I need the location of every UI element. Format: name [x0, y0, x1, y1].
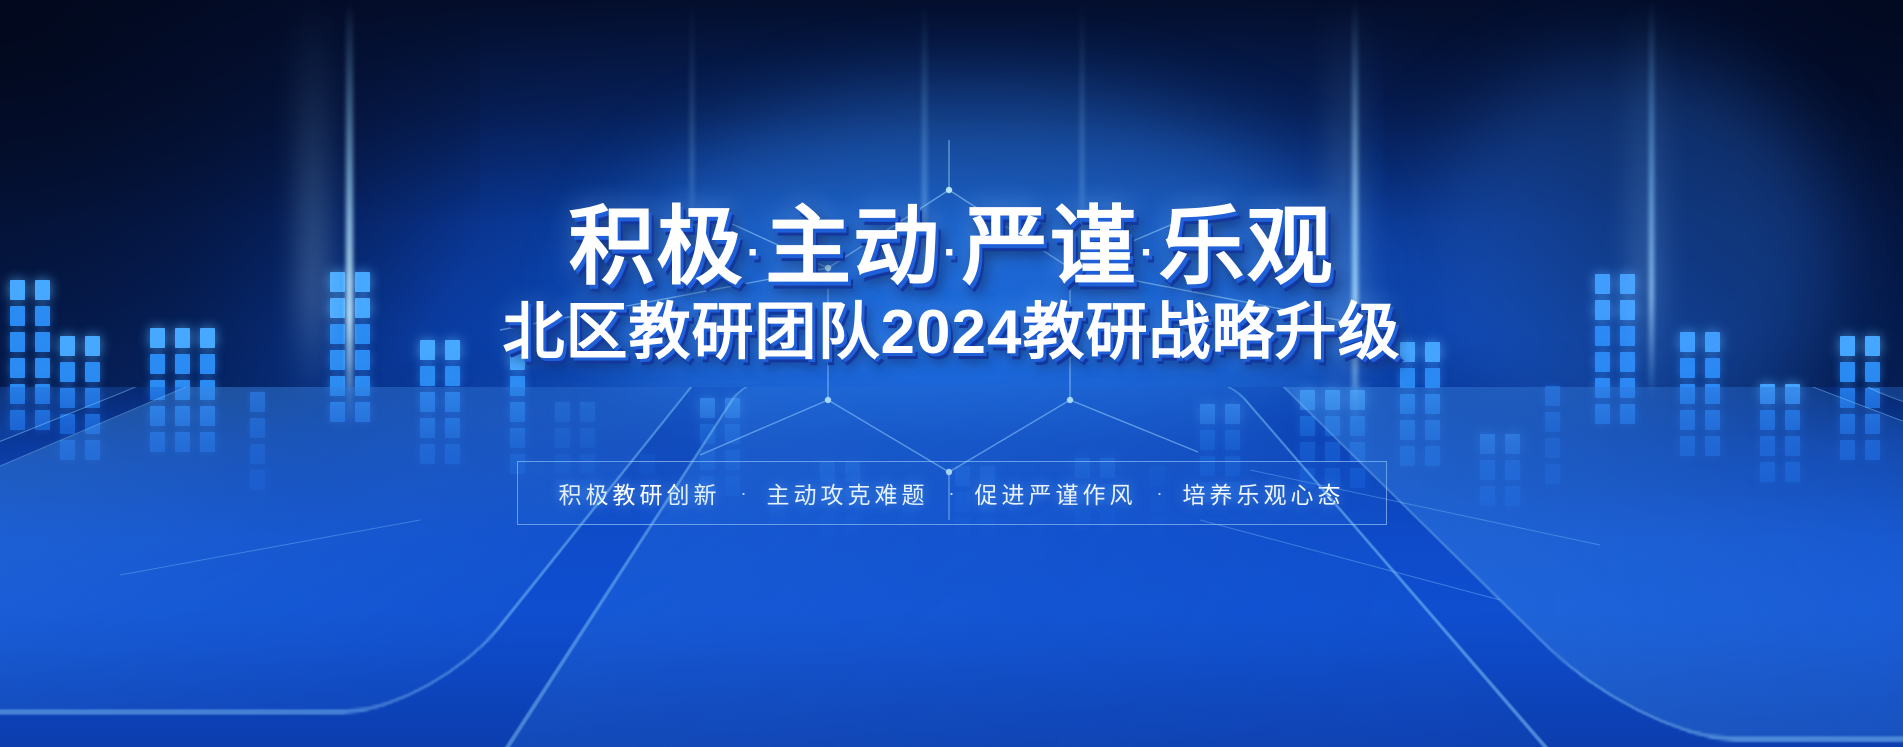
banner-main-title: 积极·主动·严谨·乐观 — [569, 204, 1335, 290]
title-separator-dot: · — [745, 228, 766, 277]
tagline-item-2: 主动攻克难题 — [767, 476, 929, 510]
banner-root: 积极·主动·严谨·乐观 北区教研团队2024教研战略升级 积极教研创新 · 主动… — [0, 0, 1903, 747]
tagline-list: 积极教研创新 · 主动攻克难题 · 促进严谨作风 · 培养乐观心态 — [559, 476, 1345, 510]
title-separator-dot: · — [941, 228, 962, 277]
title-segment-3: 严谨 — [962, 199, 1138, 295]
banner-subtitle: 北区教研团队2024教研战略升级 — [503, 302, 1401, 364]
tagline-item-4: 培养乐观心态 — [1183, 476, 1345, 510]
tagline-item-1: 积极教研创新 — [559, 476, 721, 510]
title-segment-2: 主动 — [765, 199, 941, 295]
tagline-separator: · — [741, 483, 747, 504]
tagline-item-3: 促进严谨作风 — [975, 476, 1137, 510]
tagline-separator: · — [949, 483, 955, 504]
title-separator-dot: · — [1138, 228, 1159, 277]
title-segment-1: 积极 — [569, 199, 745, 295]
tagline-frame: 积极教研创新 · 主动攻克难题 · 促进严谨作风 · 培养乐观心态 — [517, 461, 1387, 525]
tagline-separator: · — [1157, 483, 1163, 504]
title-segment-4: 乐观 — [1158, 199, 1334, 295]
banner-content: 积极·主动·严谨·乐观 北区教研团队2024教研战略升级 积极教研创新 · 主动… — [0, 0, 1903, 747]
